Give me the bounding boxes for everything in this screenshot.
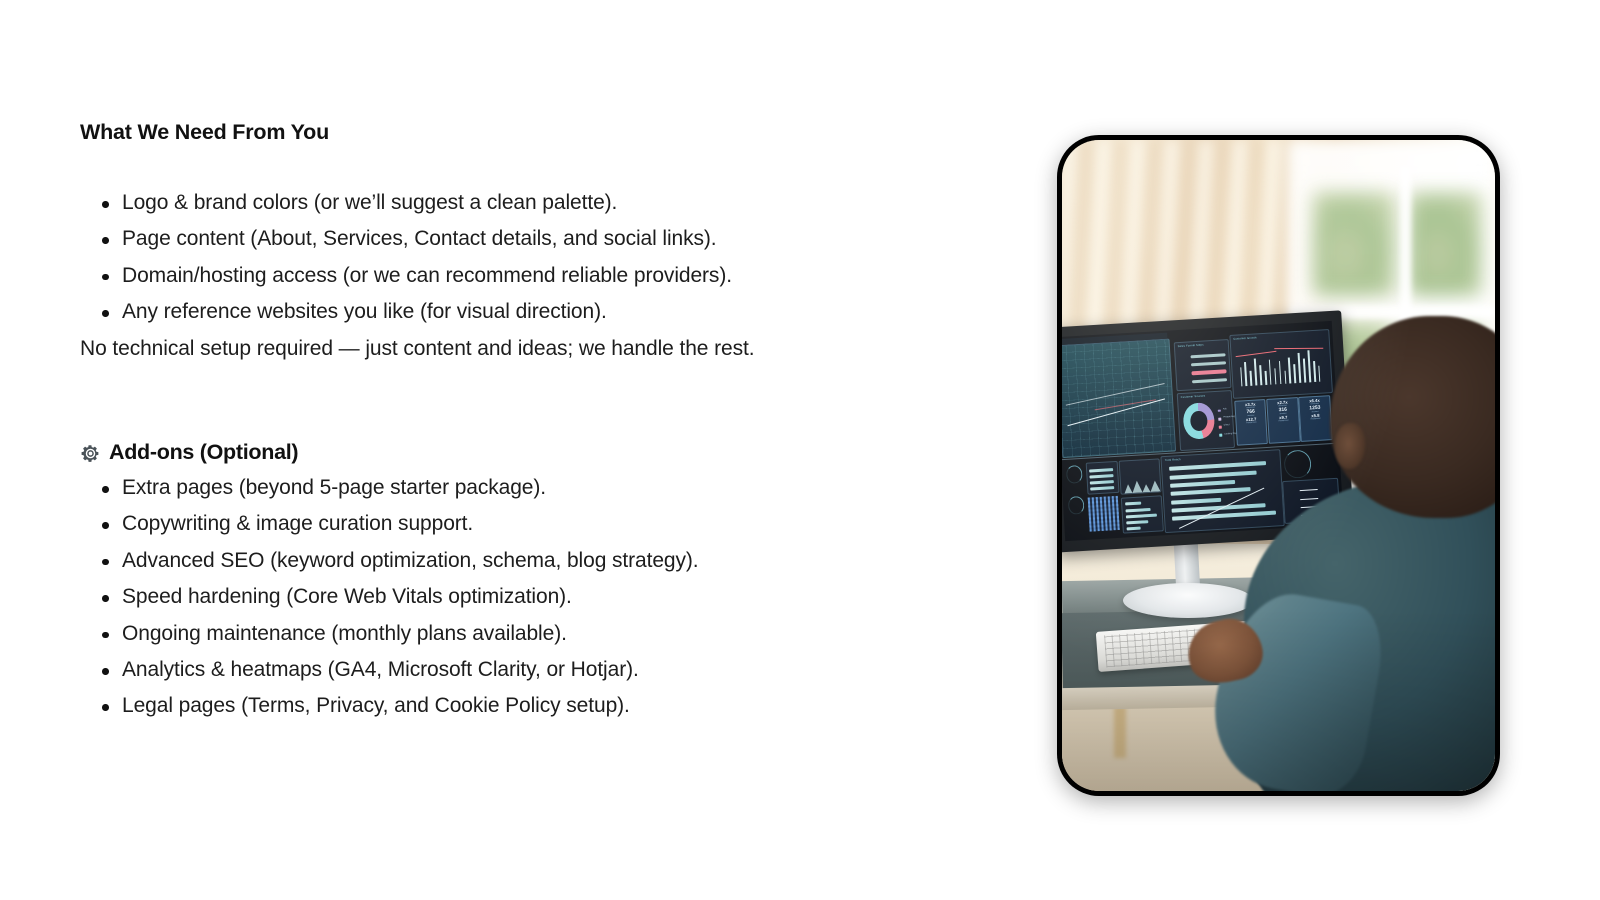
panel-title: Customer Sources xyxy=(1181,395,1206,399)
peak xyxy=(1132,481,1143,494)
candle xyxy=(1284,371,1286,383)
bar xyxy=(1126,502,1142,506)
candle xyxy=(1279,362,1282,384)
trend-line xyxy=(1235,350,1276,356)
bar xyxy=(1170,480,1235,488)
candle xyxy=(1307,350,1310,382)
bar xyxy=(1089,468,1114,472)
progress-bar xyxy=(1190,353,1225,358)
bar xyxy=(1127,527,1140,531)
window-pane xyxy=(1408,192,1482,296)
trend-line xyxy=(1274,348,1323,349)
list-item: Speed hardening (Core Web Vitals optimiz… xyxy=(80,579,900,615)
kpi-card: x3.7x conversion 766 sessions x12.7 enga… xyxy=(1234,399,1268,446)
horizontal-bar-panel: Total Reach xyxy=(1161,449,1285,534)
candle xyxy=(1303,359,1306,382)
heatmap xyxy=(1087,495,1120,531)
panel-title: Customer Growth xyxy=(1233,337,1256,341)
bar xyxy=(1170,470,1257,479)
chart-gridlines xyxy=(1062,340,1175,457)
progress-panel: Sales Funnel Steps xyxy=(1173,339,1231,391)
candle xyxy=(1250,371,1252,386)
addons-heading-row: Add-ons (Optional) xyxy=(80,440,900,465)
mountain-chart-panel xyxy=(1119,458,1162,495)
distribution-panel xyxy=(1121,495,1164,534)
legend-swatch xyxy=(1219,426,1222,429)
list-item: Ongoing maintenance (monthly plans avail… xyxy=(80,616,900,652)
list-item: Page content (About, Services, Contact d… xyxy=(80,221,900,257)
addons-list: Extra pages (beyond 5-page starter packa… xyxy=(80,470,900,725)
bar xyxy=(1090,486,1115,490)
list-item: Extra pages (beyond 5-page starter packa… xyxy=(80,470,900,506)
kpi-label: engagement xyxy=(1301,417,1330,421)
candle xyxy=(1259,365,1262,385)
content-column: What We Need From You Logo & brand color… xyxy=(80,118,900,725)
dashboard-screen: Sales Funnel Steps Customer Growth xyxy=(1062,321,1344,542)
desk-leg xyxy=(1114,706,1126,758)
photo-scene: Sales Funnel Steps Customer Growth xyxy=(1062,140,1495,791)
gauge xyxy=(1284,449,1313,479)
peak xyxy=(1124,485,1133,494)
candlestick-panel: Customer Growth xyxy=(1229,329,1332,398)
list-item: Logo & brand colors (or we’ll suggest a … xyxy=(80,185,900,221)
candle xyxy=(1298,353,1301,382)
candle xyxy=(1244,362,1247,385)
bar xyxy=(1126,508,1150,512)
candle xyxy=(1265,371,1267,385)
sparkline xyxy=(1301,498,1319,500)
candle xyxy=(1240,367,1243,385)
panel-title: Total Reach xyxy=(1165,458,1181,462)
bar xyxy=(1089,480,1114,484)
addons-title: Add-ons (Optional) xyxy=(109,440,298,465)
addons-section: Add-ons (Optional) Extra pages (beyond 5… xyxy=(80,440,900,725)
kpi-card: x2.7x conversion 316 sessions x9.7 engag… xyxy=(1266,397,1300,444)
area-chart-panel xyxy=(1062,339,1176,458)
progress-bar-accent xyxy=(1191,370,1226,375)
kpi-label: engagement xyxy=(1237,421,1266,425)
list-item: Advanced SEO (keyword optimization, sche… xyxy=(80,543,900,579)
legend-label: Ads xyxy=(1223,408,1227,410)
kpi-card: x6.4x conversion 1253 sessions x5.8 enga… xyxy=(1299,395,1333,442)
bar xyxy=(1172,511,1275,521)
candle xyxy=(1294,364,1297,382)
page-title: What We Need From You xyxy=(80,118,900,147)
gauge xyxy=(1068,495,1085,514)
bar xyxy=(1171,497,1220,504)
legend-swatch xyxy=(1220,434,1223,437)
bar xyxy=(1169,461,1265,471)
progress-bar xyxy=(1192,378,1227,383)
legend-label: Direct xyxy=(1224,425,1230,427)
peak xyxy=(1150,481,1161,493)
kpi-label: engagement xyxy=(1269,419,1298,423)
progress-bar xyxy=(1191,361,1226,366)
candle xyxy=(1313,361,1316,382)
photo-frame: Sales Funnel Steps Customer Growth xyxy=(1057,135,1500,796)
list-item: Any reference websites you like (for vis… xyxy=(80,294,900,330)
list-item: Domain/hosting access (or we can recomme… xyxy=(80,258,900,294)
list-item: Legal pages (Terms, Privacy, and Cookie … xyxy=(80,688,900,724)
list-item: Copywriting & image curation support. xyxy=(80,506,900,542)
panel-title: Sales Funnel Steps xyxy=(1178,344,1204,349)
photo-image: Sales Funnel Steps Customer Growth xyxy=(1062,140,1495,791)
bar xyxy=(1089,474,1114,478)
bar xyxy=(1127,520,1149,524)
gauge xyxy=(1066,465,1083,484)
bar xyxy=(1171,487,1251,496)
mini-bar-panel xyxy=(1085,461,1120,496)
bar xyxy=(1126,514,1157,519)
candle xyxy=(1269,360,1272,385)
candle xyxy=(1254,358,1257,385)
monitor-stand-base xyxy=(1123,583,1253,618)
sparkline xyxy=(1300,489,1318,491)
closing-note: No technical setup required — just conte… xyxy=(80,331,900,367)
gear-icon xyxy=(80,443,101,464)
candle xyxy=(1318,365,1321,381)
list-item: Analytics & heatmaps (GA4, Microsoft Cla… xyxy=(80,652,900,688)
candle xyxy=(1288,357,1291,383)
requirements-list: Logo & brand colors (or we’ll suggest a … xyxy=(80,185,900,331)
legend-swatch xyxy=(1219,418,1222,421)
candle xyxy=(1274,368,1277,384)
window-pane xyxy=(1313,192,1395,296)
